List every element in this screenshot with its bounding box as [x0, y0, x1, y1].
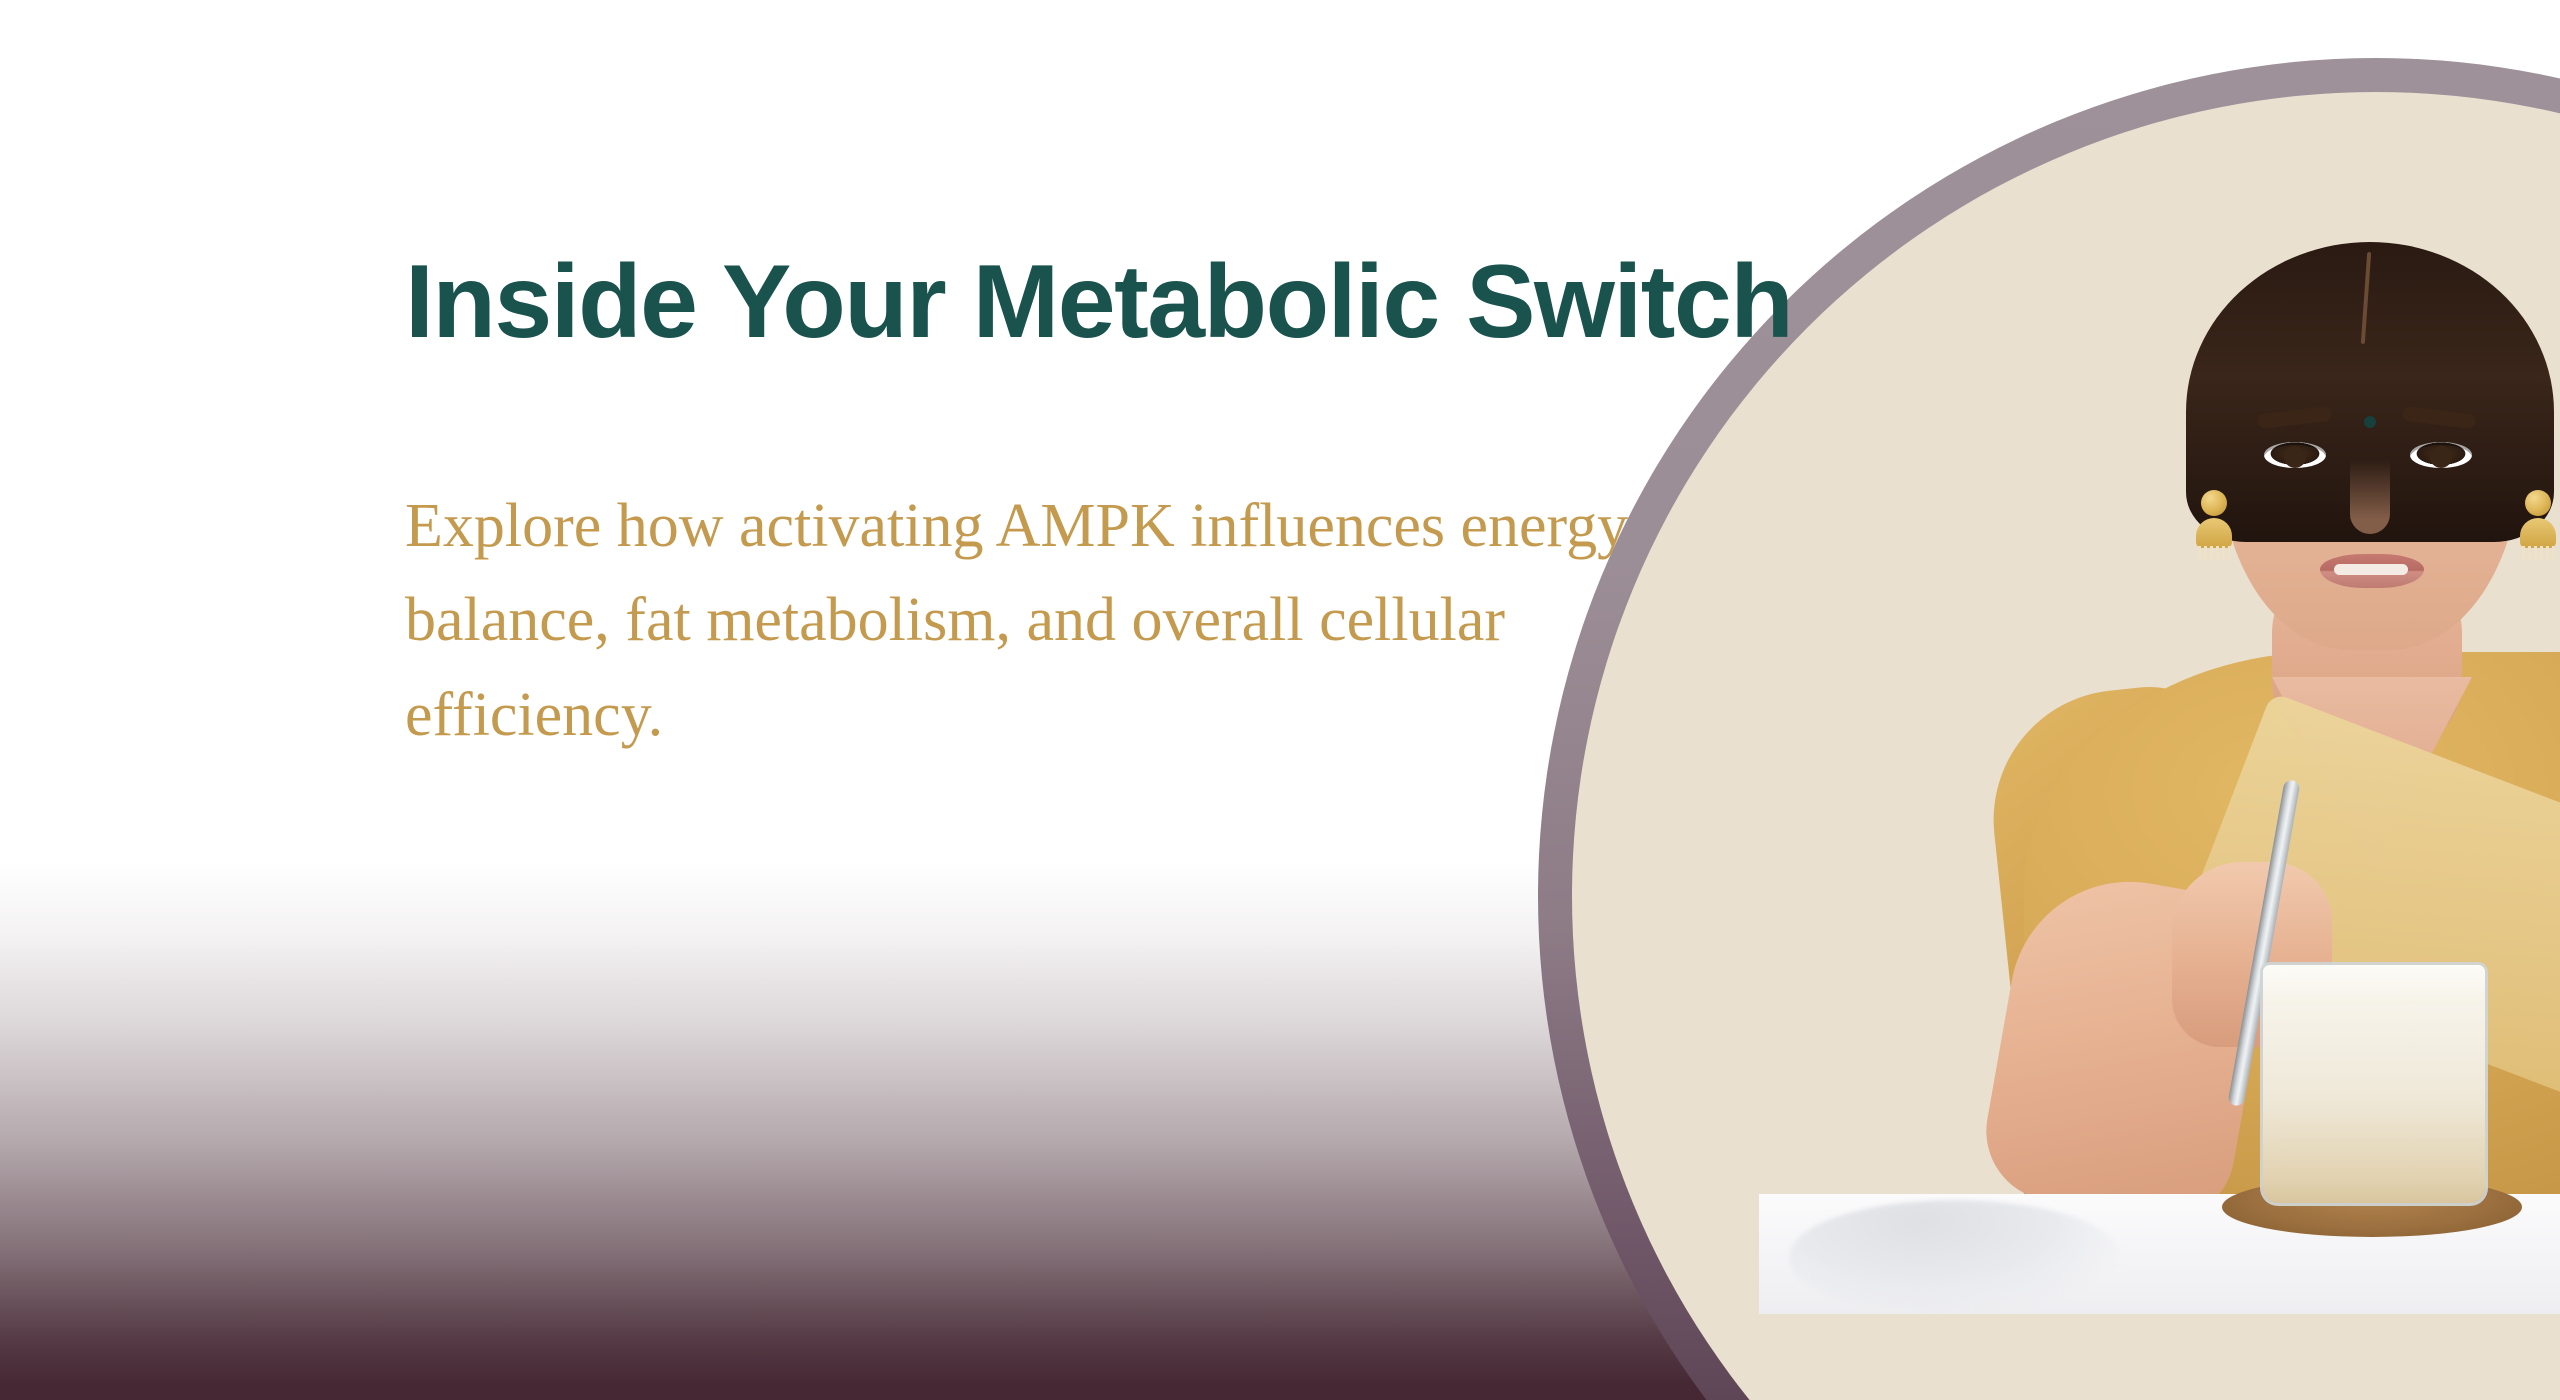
- earring-left: [2196, 490, 2232, 574]
- glass-foam: [2263, 965, 2485, 1005]
- earring-stud-right: [2525, 490, 2551, 516]
- earring-fringe-right: [2522, 546, 2554, 560]
- pupil-left: [2284, 446, 2306, 468]
- pupil-right: [2430, 446, 2452, 468]
- glass-liquid: [2263, 1005, 2485, 1203]
- bindi-icon: [2364, 416, 2376, 428]
- earring-right: [2520, 490, 2556, 574]
- page-title: Inside Your Metabolic Switch: [405, 248, 1565, 357]
- earring-stud-left: [2201, 490, 2227, 516]
- model-nose: [2350, 460, 2390, 534]
- page-subtitle: Explore how activating AMPK influences e…: [405, 479, 1630, 762]
- earring-fringe-left: [2198, 546, 2230, 560]
- table-reflection: [1790, 1200, 2120, 1312]
- slide-canvas: AKSHOBH NUTRA PREMIUM AYURVEDIC SUPPLEME…: [0, 0, 2560, 1400]
- model-teeth: [2334, 564, 2408, 575]
- text-block: Inside Your Metabolic Switch Explore how…: [405, 248, 1565, 762]
- earring-bell-right: [2520, 518, 2556, 548]
- drinking-glass: [2260, 962, 2488, 1206]
- earring-bell-left: [2196, 518, 2232, 548]
